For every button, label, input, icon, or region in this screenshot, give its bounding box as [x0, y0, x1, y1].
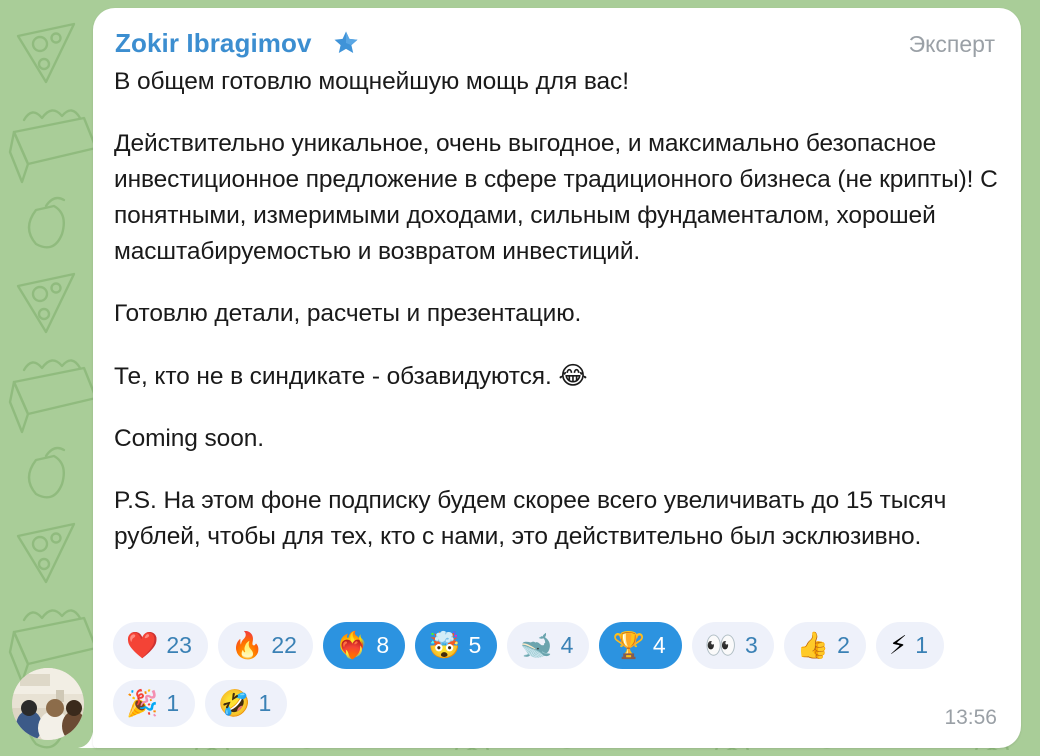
message-bubble: Zokir Ibragimov Эксперт В общем готовлю …: [93, 8, 1021, 748]
message-paragraph: P.S. На этом фоне подписку будем скорее …: [114, 483, 1014, 555]
party-popper-emoji: 🎉: [126, 691, 158, 717]
reaction-eyes[interactable]: 👀3: [692, 622, 774, 669]
message-paragraph-text: Те, кто не в синдикате - обзавидуются.: [114, 363, 558, 390]
reaction-thumbs-up[interactable]: 👍2: [784, 622, 866, 669]
reaction-count: 5: [468, 634, 481, 657]
reaction-exploding-head[interactable]: 🤯5: [415, 622, 497, 669]
reaction-count: 3: [745, 634, 758, 657]
message-paragraph: Действительно уникальное, очень выгодное…: [114, 126, 1014, 270]
reaction-rofl[interactable]: 🤣1: [205, 680, 287, 727]
trophy-emoji: 🏆: [612, 633, 644, 659]
face-with-tears-of-joy-emoji: 😂: [558, 361, 587, 390]
red-heart-emoji: ❤️: [126, 633, 158, 659]
reaction-whale[interactable]: 🐋4: [507, 622, 589, 669]
reactions-bar: ❤️23🔥22❤️‍🔥8🤯5🐋4🏆4👀3👍2⚡1🎉1🤣1: [113, 622, 1003, 727]
reaction-count: 4: [561, 634, 574, 657]
reaction-count: 22: [271, 634, 297, 657]
reaction-count: 2: [837, 634, 850, 657]
reaction-count: 23: [166, 634, 192, 657]
reaction-count: 8: [376, 634, 389, 657]
fire-emoji: 🔥: [231, 633, 263, 659]
message-text: В общем готовлю мощнейшую мощь для вас! …: [114, 64, 1014, 555]
message-paragraph: Coming soon.: [114, 421, 1014, 457]
rofl-emoji: 🤣: [218, 691, 250, 717]
reaction-count: 1: [166, 692, 179, 715]
avatar-photo: [12, 668, 84, 740]
exploding-head-emoji: 🤯: [428, 633, 460, 659]
expert-badge: Эксперт: [909, 31, 995, 58]
reaction-party-popper[interactable]: 🎉1: [113, 680, 195, 727]
high-voltage-emoji: ⚡: [889, 633, 907, 659]
avatar[interactable]: [12, 668, 84, 740]
reaction-red-heart[interactable]: ❤️23: [113, 622, 208, 669]
thumbs-up-emoji: 👍: [797, 633, 829, 659]
reaction-count: 1: [259, 692, 272, 715]
message-timestamp: 13:56: [944, 706, 997, 730]
message-row: Zokir Ibragimov Эксперт В общем готовлю …: [0, 0, 1040, 756]
reaction-count: 1: [915, 634, 928, 657]
reaction-heart-on-fire[interactable]: ❤️‍🔥8: [323, 622, 405, 669]
whale-emoji: 🐋: [520, 633, 552, 659]
reaction-high-voltage[interactable]: ⚡1: [876, 622, 944, 669]
eyes-emoji: 👀: [705, 633, 737, 659]
sender-name[interactable]: Zokir Ibragimov: [115, 28, 312, 59]
message-paragraph: Готовлю детали, расчеты и презентацию.: [114, 296, 1014, 332]
reaction-count: 4: [653, 634, 666, 657]
message-paragraph: В общем готовлю мощнейшую мощь для вас!: [114, 64, 1014, 100]
message-header: Zokir Ibragimov Эксперт: [115, 28, 1001, 62]
heart-on-fire-emoji: ❤️‍🔥: [336, 633, 368, 659]
reaction-trophy[interactable]: 🏆4: [599, 622, 681, 669]
premium-star-icon: [333, 30, 359, 56]
message-paragraph-with-emoji: Те, кто не в синдикате - обзавидуются. 😂: [114, 358, 1014, 395]
reaction-fire[interactable]: 🔥22: [218, 622, 313, 669]
